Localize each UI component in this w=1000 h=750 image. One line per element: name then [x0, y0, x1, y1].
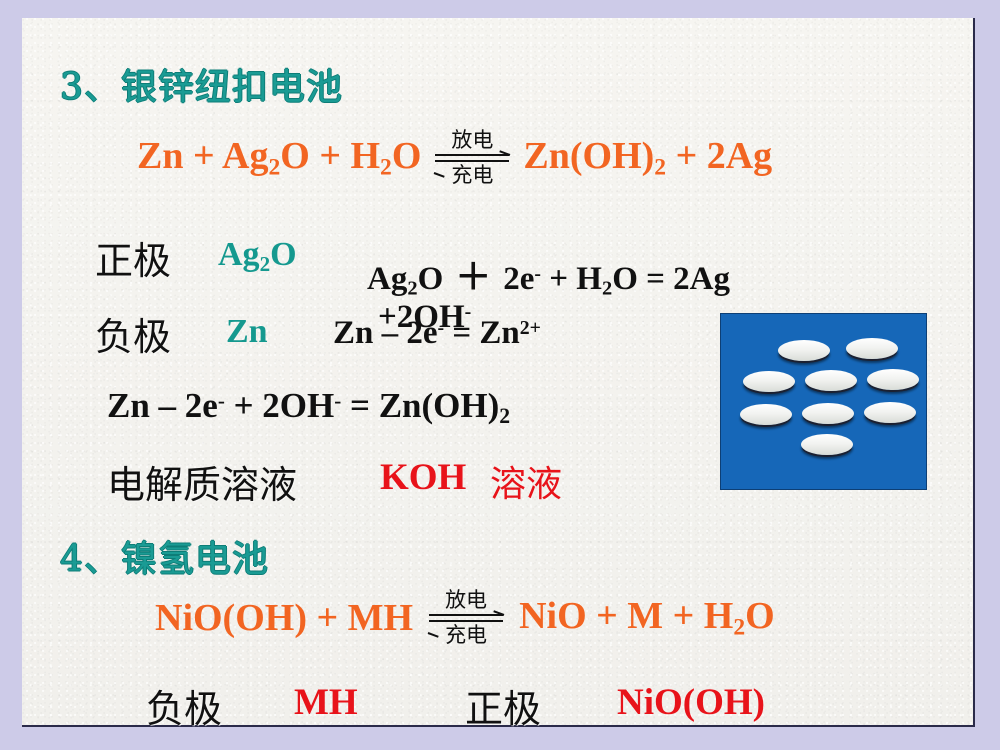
arrow-bottom-label: 充电 — [435, 165, 509, 186]
button-cell-8 — [864, 402, 916, 423]
section4-overall-equation: NiO(OH) + MH 放电 充电 NiO + M + H2O — [155, 590, 775, 646]
arrow-bars-icon — [435, 152, 509, 164]
section4-cathode-species: NiO(OH) — [617, 681, 765, 724]
section4-cathode-label: 正极 — [465, 678, 541, 733]
arrow-top-label: 放电 — [435, 130, 509, 151]
button-cell-6 — [740, 404, 792, 425]
reversible-arrow-icon-2: 放电 充电 — [429, 590, 503, 646]
section4-anode-label: 负极 — [146, 678, 222, 733]
section3-overall-equation: Zn + Ag2O + H2O 放电 充电 Zn(OH)2 + 2Ag — [137, 130, 772, 186]
button-cell-4 — [805, 370, 857, 391]
anode-species: Zn — [226, 313, 268, 351]
section4-heading: 4、镍氢电池 — [60, 530, 269, 582]
overall4-left: NiO(OH) + MH — [155, 596, 413, 640]
anode-half-reaction-short: Zn – 2e- = Zn2+ — [333, 315, 541, 352]
button-cell-5 — [867, 369, 919, 390]
anode-half-reaction-full: Zn – 2e- + 2OH- = Zn(OH)2 — [107, 386, 510, 429]
cathode-half-reaction: Ag2O＋2e- + H2O = 2Ag — [367, 248, 730, 301]
arrow-bars-icon-2 — [429, 612, 503, 624]
overall3-left: Zn + Ag2O + H2O — [137, 134, 421, 182]
section3-heading: 3、银锌纽扣电池 — [60, 58, 343, 110]
overall3-right: Zn(OH)2 + 2Ag — [523, 134, 772, 182]
button-cell-3 — [743, 371, 795, 392]
cathode-species: Ag2O — [218, 236, 297, 277]
section4-anode-species: MH — [294, 681, 358, 724]
cathode-label: 正极 — [95, 230, 171, 285]
electrolyte-label: 电解质溶液 — [107, 454, 297, 509]
button-cell-2 — [846, 338, 898, 359]
slide-frame: 3、银锌纽扣电池 Zn + Ag2O + H2O 放电 充电 Zn(OH)2 +… — [0, 0, 1000, 750]
button-cell-photo — [720, 313, 927, 490]
arrow-bottom-label-2: 充电 — [429, 625, 503, 646]
overall4-right: NiO + M + H2O — [519, 594, 775, 642]
slide-canvas: 3、银锌纽扣电池 Zn + Ag2O + H2O 放电 充电 Zn(OH)2 +… — [22, 18, 975, 727]
electrolyte-formula: KOH — [380, 456, 466, 499]
anode-label: 负极 — [95, 306, 171, 361]
button-cell-9 — [801, 434, 853, 455]
arrow-top-label-2: 放电 — [429, 590, 503, 611]
reversible-arrow-icon: 放电 充电 — [435, 130, 509, 186]
electrolyte-solution-word: 溶液 — [490, 455, 562, 507]
button-cell-7 — [802, 403, 854, 424]
button-cell-1 — [778, 340, 830, 361]
